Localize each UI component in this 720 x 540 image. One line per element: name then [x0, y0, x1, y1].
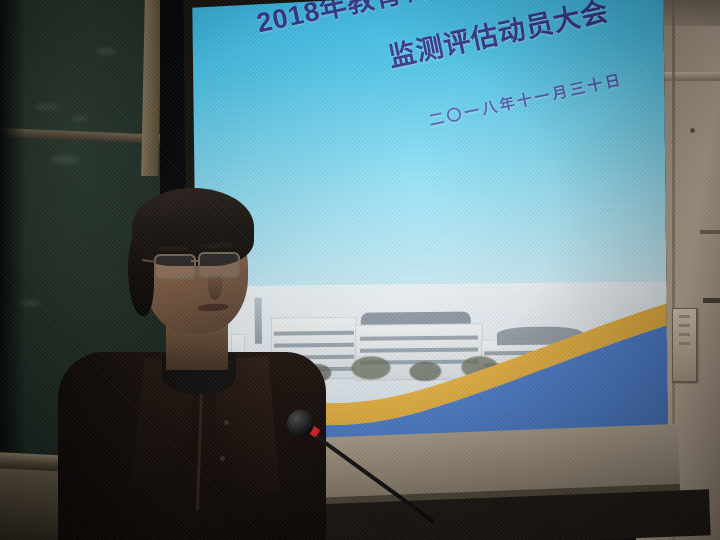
switch-rocker-4[interactable] [679, 342, 690, 345]
eyeglasses-lens-left [154, 254, 196, 280]
microphone-stand-arm [312, 432, 436, 523]
blackboard-frame [141, 0, 162, 176]
microphone-head [287, 410, 314, 437]
wall-switch-plate[interactable] [672, 308, 697, 382]
slide-title-line-2: 监测评估动员大会 [385, 0, 669, 74]
chalk-smudge [96, 48, 116, 55]
chalk-smudge [50, 156, 80, 163]
switch-rocker-3[interactable] [679, 333, 690, 336]
slide-date: 二〇一八年十一月三十日 [427, 53, 669, 131]
eyeglasses-bridge [191, 260, 200, 262]
switch-rocker-2[interactable] [679, 324, 690, 327]
photograph-scene: 2018年教育科学学院脱贫攻坚第三方 监测评估动员大会 二〇一八年十一月三十日 [0, 0, 720, 540]
wall-seam-secondary [700, 230, 720, 234]
presenter-nose [208, 272, 222, 300]
wall-conduit [703, 298, 720, 303]
chalk-smudge [34, 104, 60, 110]
slide-title-block: 2018年教育科学学院脱贫攻坚第三方 监测评估动员大会 二〇一八年十一月三十日 [206, 0, 669, 172]
wall-molding [660, 72, 720, 81]
blackboard-shadow [0, 0, 26, 470]
wall-screw [690, 128, 695, 133]
handheld-microphone [283, 408, 523, 540]
presenter-hair-side [128, 230, 154, 316]
chalk-smudge [72, 116, 88, 121]
switch-rocker-1[interactable] [679, 315, 690, 318]
